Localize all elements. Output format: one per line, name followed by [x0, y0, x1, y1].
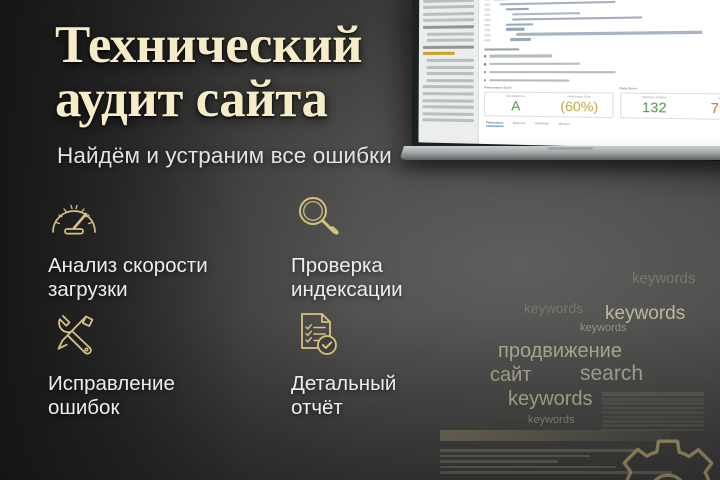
feature-item-fixes: Исправление ошибок [48, 310, 291, 428]
feature-label: Исправление ошибок [48, 372, 291, 420]
poster-canvas: Status [0, 0, 720, 480]
feature-label: Детальный отчёт [291, 372, 448, 420]
speedometer-icon [48, 192, 100, 242]
feature-item-speed: Анализ скорости загрузки [48, 192, 291, 310]
checklist-document-icon [291, 310, 343, 360]
feature-label: Проверка индексации [291, 254, 448, 302]
page-title: Технический аудит сайта [55, 18, 455, 126]
page-subtitle: Найдём и устраним все ошибки [57, 143, 477, 169]
headline-line-1: Технический [55, 16, 362, 74]
feature-item-indexing: Проверка индексации [291, 192, 448, 310]
feature-item-report: Детальный отчёт [291, 310, 448, 428]
headline-line-2: аудит сайта [55, 72, 455, 126]
feature-list: Анализ скорости загрузки Проверка индекс… [48, 192, 448, 428]
feature-label: Анализ скорости загрузки [48, 254, 291, 302]
wrench-screwdriver-icon [48, 310, 100, 360]
magnifier-icon [291, 192, 343, 242]
